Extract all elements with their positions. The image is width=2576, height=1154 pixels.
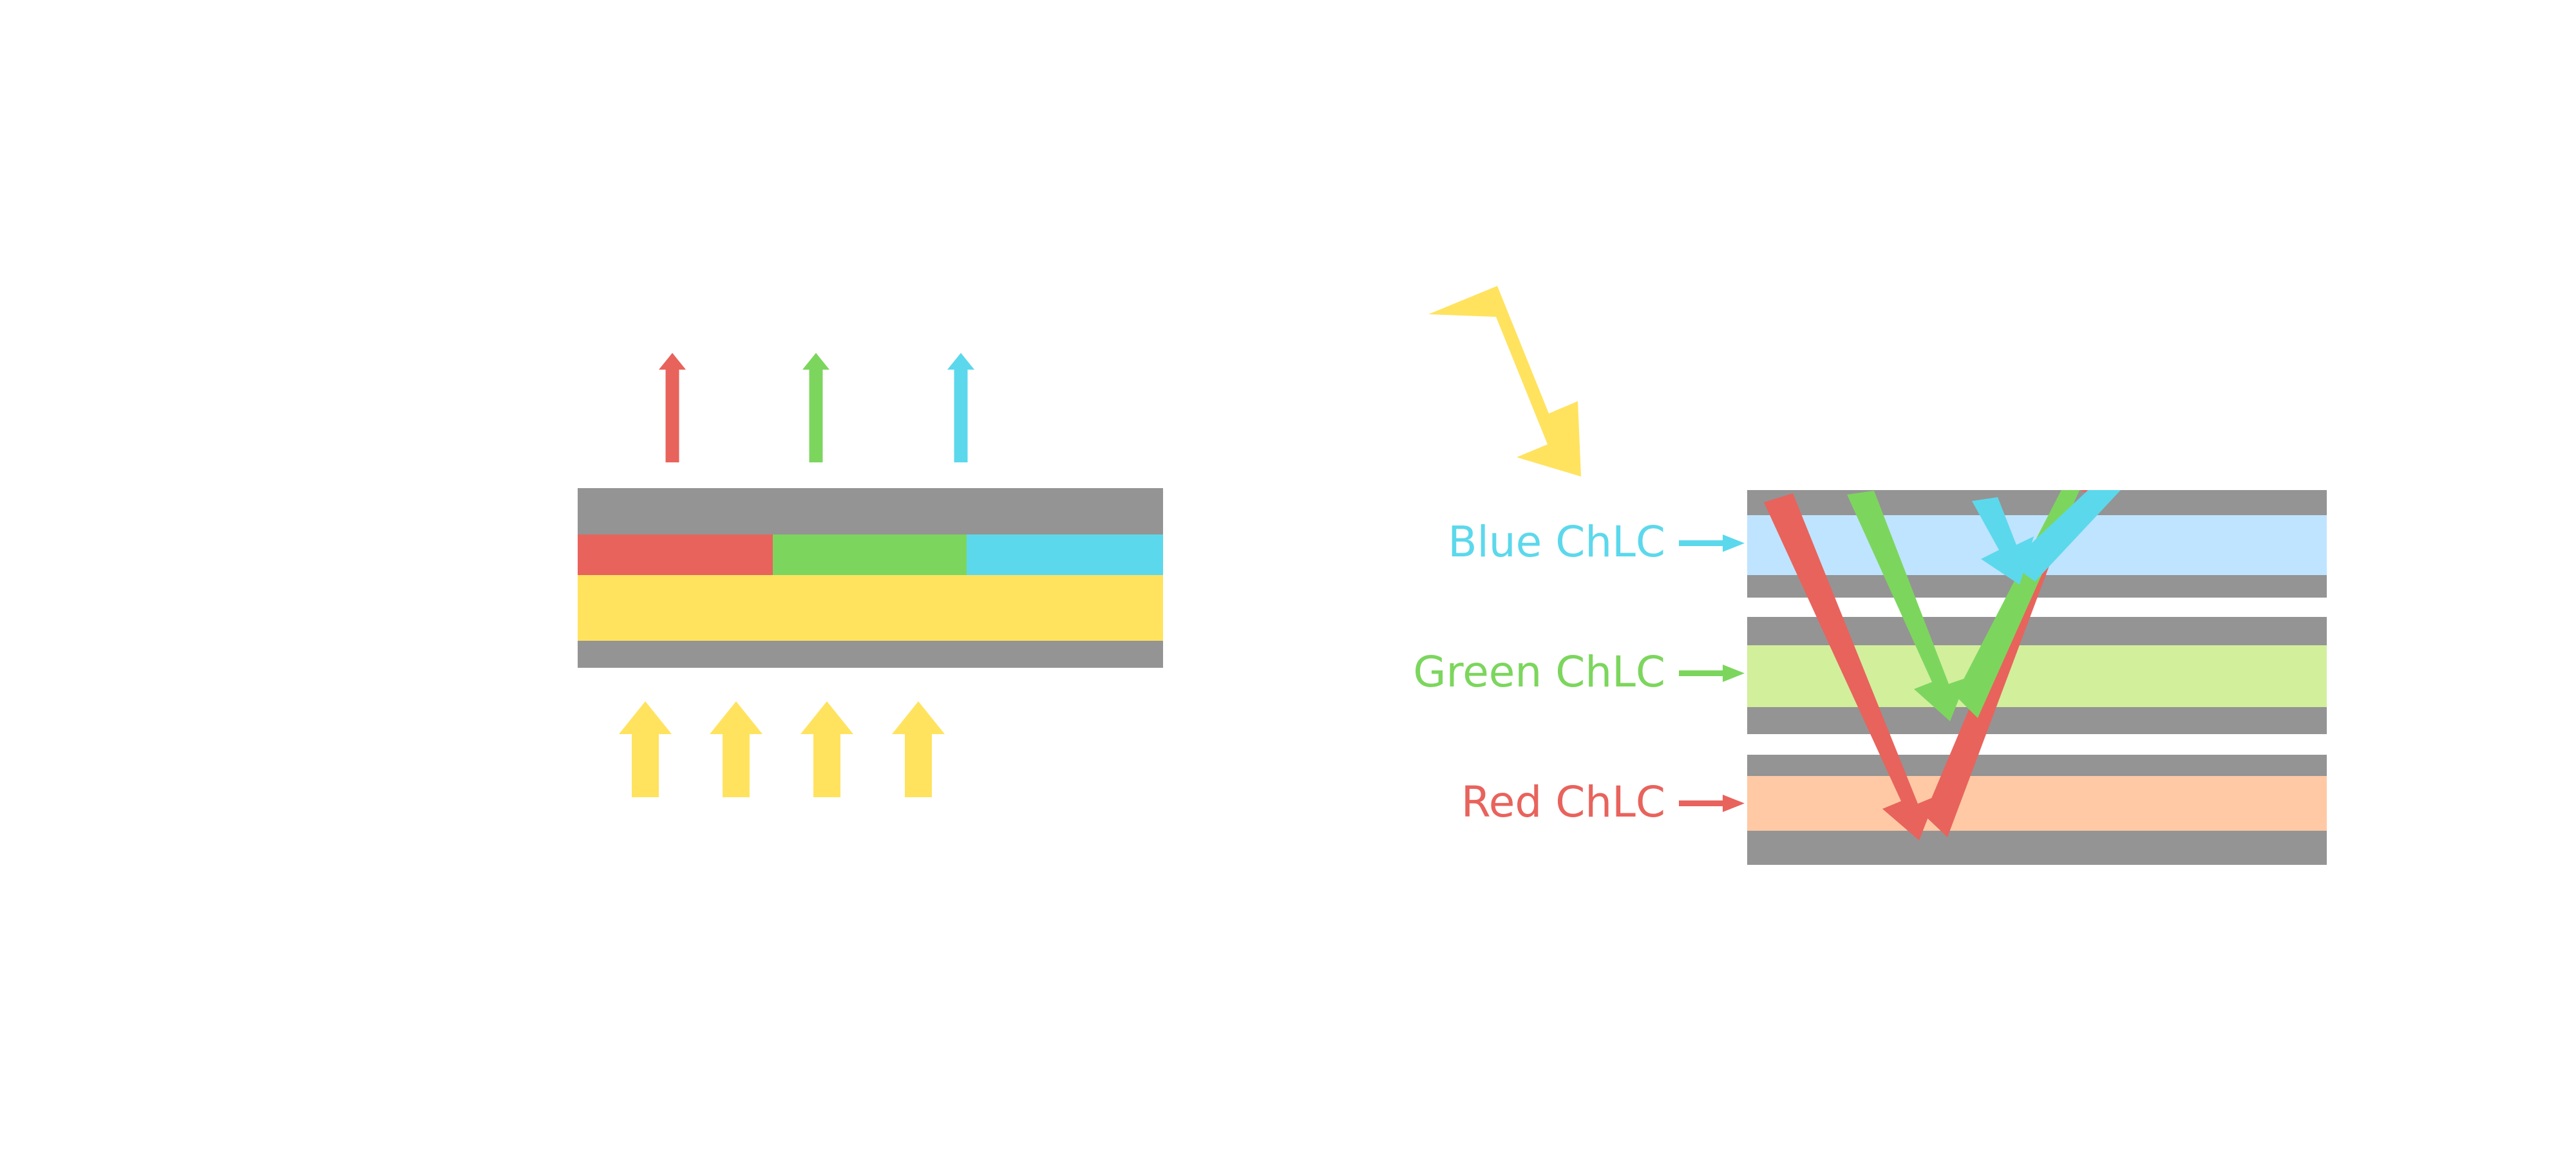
red-emitted-arrow bbox=[659, 353, 686, 462]
cyan-segment bbox=[967, 534, 1163, 575]
backlight-layer bbox=[578, 575, 1163, 641]
backlight-arrow-4 bbox=[892, 701, 945, 797]
green-chlc-label: Green ChLC bbox=[1413, 647, 1665, 697]
green-chlc-label-arrow bbox=[1679, 665, 1745, 682]
bottom-electrode bbox=[578, 641, 1163, 668]
red-segment bbox=[578, 534, 773, 575]
ambient-light-arrow bbox=[1428, 286, 1581, 477]
left-panel-svg bbox=[578, 341, 1189, 831]
blue-chlc-label: Blue ChLC bbox=[1448, 517, 1665, 567]
backlight-arrow-2 bbox=[710, 701, 762, 797]
right-panel-svg: Blue ChLC Green ChLC Red ChLC bbox=[1385, 270, 2363, 889]
backlight-arrows-group bbox=[619, 701, 945, 797]
gray-1 bbox=[1747, 490, 2327, 515]
diagram-canvas: Blue ChLC Green ChLC Red ChLC bbox=[0, 0, 2576, 1154]
top-electrode bbox=[578, 488, 1163, 534]
green-segment bbox=[773, 534, 967, 575]
stacked-chlc-panel: Blue ChLC Green ChLC Red ChLC bbox=[1385, 270, 2363, 889]
gray-4 bbox=[1747, 707, 2327, 734]
segmented-chlc-panel bbox=[578, 341, 1189, 831]
gap-2 bbox=[1747, 734, 2327, 755]
emitted-arrows-group bbox=[659, 353, 974, 462]
cyan-emitted-arrow bbox=[947, 353, 974, 462]
chlc-labels-group: Blue ChLC Green ChLC Red ChLC bbox=[1413, 517, 1745, 827]
segmented-stack-group bbox=[578, 488, 1163, 668]
red-chlc-label: Red ChLC bbox=[1461, 777, 1665, 827]
green-emitted-arrow bbox=[802, 353, 829, 462]
backlight-arrow-3 bbox=[800, 701, 853, 797]
red-chlc-label-arrow bbox=[1679, 795, 1745, 812]
backlight-arrow-1 bbox=[619, 701, 672, 797]
red-chlc bbox=[1747, 776, 2327, 831]
gray-6 bbox=[1747, 831, 2327, 865]
gray-5 bbox=[1747, 755, 2327, 776]
blue-chlc-label-arrow bbox=[1679, 534, 1745, 552]
